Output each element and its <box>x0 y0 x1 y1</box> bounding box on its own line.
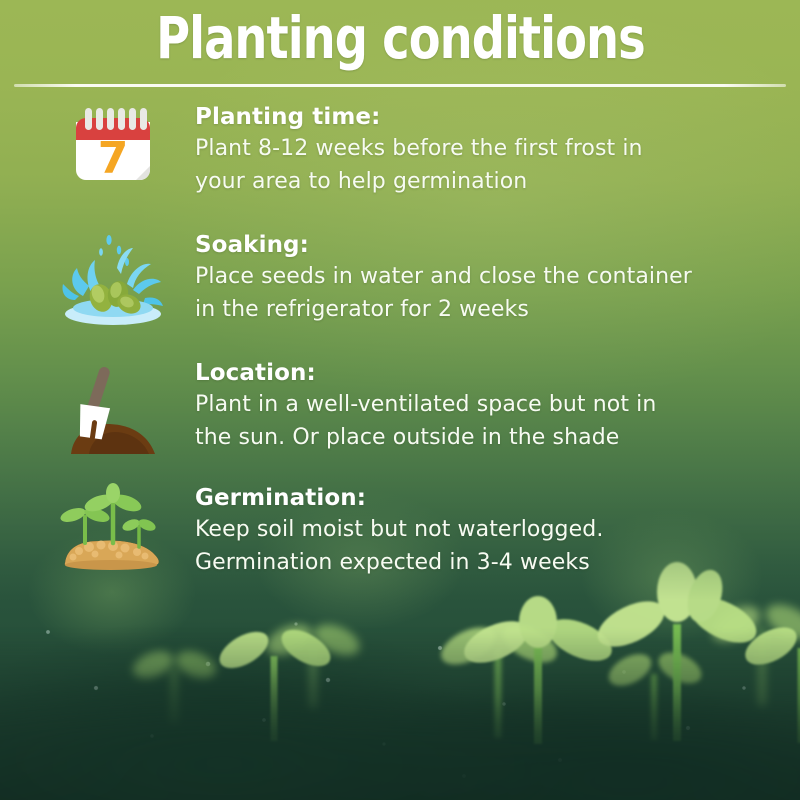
section-body-line2-planting-time: your area to help germination <box>195 165 790 198</box>
section-body-line1-location: Plant in a well-ventilated space but not… <box>195 388 790 421</box>
text-cell-planting-time: Planting time: Plant 8-12 weeks before t… <box>195 100 800 198</box>
icon-cell-germination <box>30 481 195 579</box>
section-heading-planting-time: Planting time: <box>195 102 790 132</box>
text-cell-location: Location: Plant in a well-ventilated spa… <box>195 356 800 454</box>
section-body-line2-location: the sun. Or place outside in the shade <box>195 421 790 454</box>
planting-conditions-poster: Planting conditions <box>0 0 800 800</box>
section-body-line2-germination: Germination expected in 3-4 weeks <box>195 546 790 579</box>
section-heading-soaking: Soaking: <box>195 230 790 260</box>
section-soaking: Soaking: Place seeds in water and close … <box>0 228 800 356</box>
icon-cell-soaking <box>30 228 195 330</box>
title-block: Planting conditions <box>0 6 800 70</box>
section-body-line1-germination: Keep soil moist but not waterlogged. <box>195 513 790 546</box>
section-location: Location: Plant in a well-ventilated spa… <box>0 356 800 481</box>
svg-text:7: 7 <box>97 133 128 184</box>
title-divider <box>14 84 786 87</box>
shovel-in-soil-icon <box>63 362 163 460</box>
icon-cell-planting-time: 7 <box>30 100 195 192</box>
text-cell-soaking: Soaking: Place seeds in water and close … <box>195 228 800 326</box>
seedlings-sprouting-icon <box>59 487 167 579</box>
section-germination: Germination: Keep soil moist but not wat… <box>0 481 800 601</box>
section-planting-time: 7 Planting time: Plant 8-12 weeks before… <box>0 100 800 228</box>
page-title: Planting conditions <box>156 6 645 70</box>
sections-list: 7 Planting time: Plant 8-12 weeks before… <box>0 100 800 601</box>
section-body-line2-soaking: in the refrigerator for 2 weeks <box>195 293 790 326</box>
foreground-moss-band <box>0 630 800 800</box>
calendar-icon: 7 <box>70 106 156 192</box>
icon-cell-location <box>30 356 195 460</box>
section-heading-germination: Germination: <box>195 483 790 513</box>
water-splash-seeds-icon <box>61 234 165 330</box>
section-body-line1-soaking: Place seeds in water and close the conta… <box>195 260 790 293</box>
section-body-line1-planting-time: Plant 8-12 weeks before the first frost … <box>195 132 790 165</box>
text-cell-germination: Germination: Keep soil moist but not wat… <box>195 481 800 579</box>
section-heading-location: Location: <box>195 358 790 388</box>
